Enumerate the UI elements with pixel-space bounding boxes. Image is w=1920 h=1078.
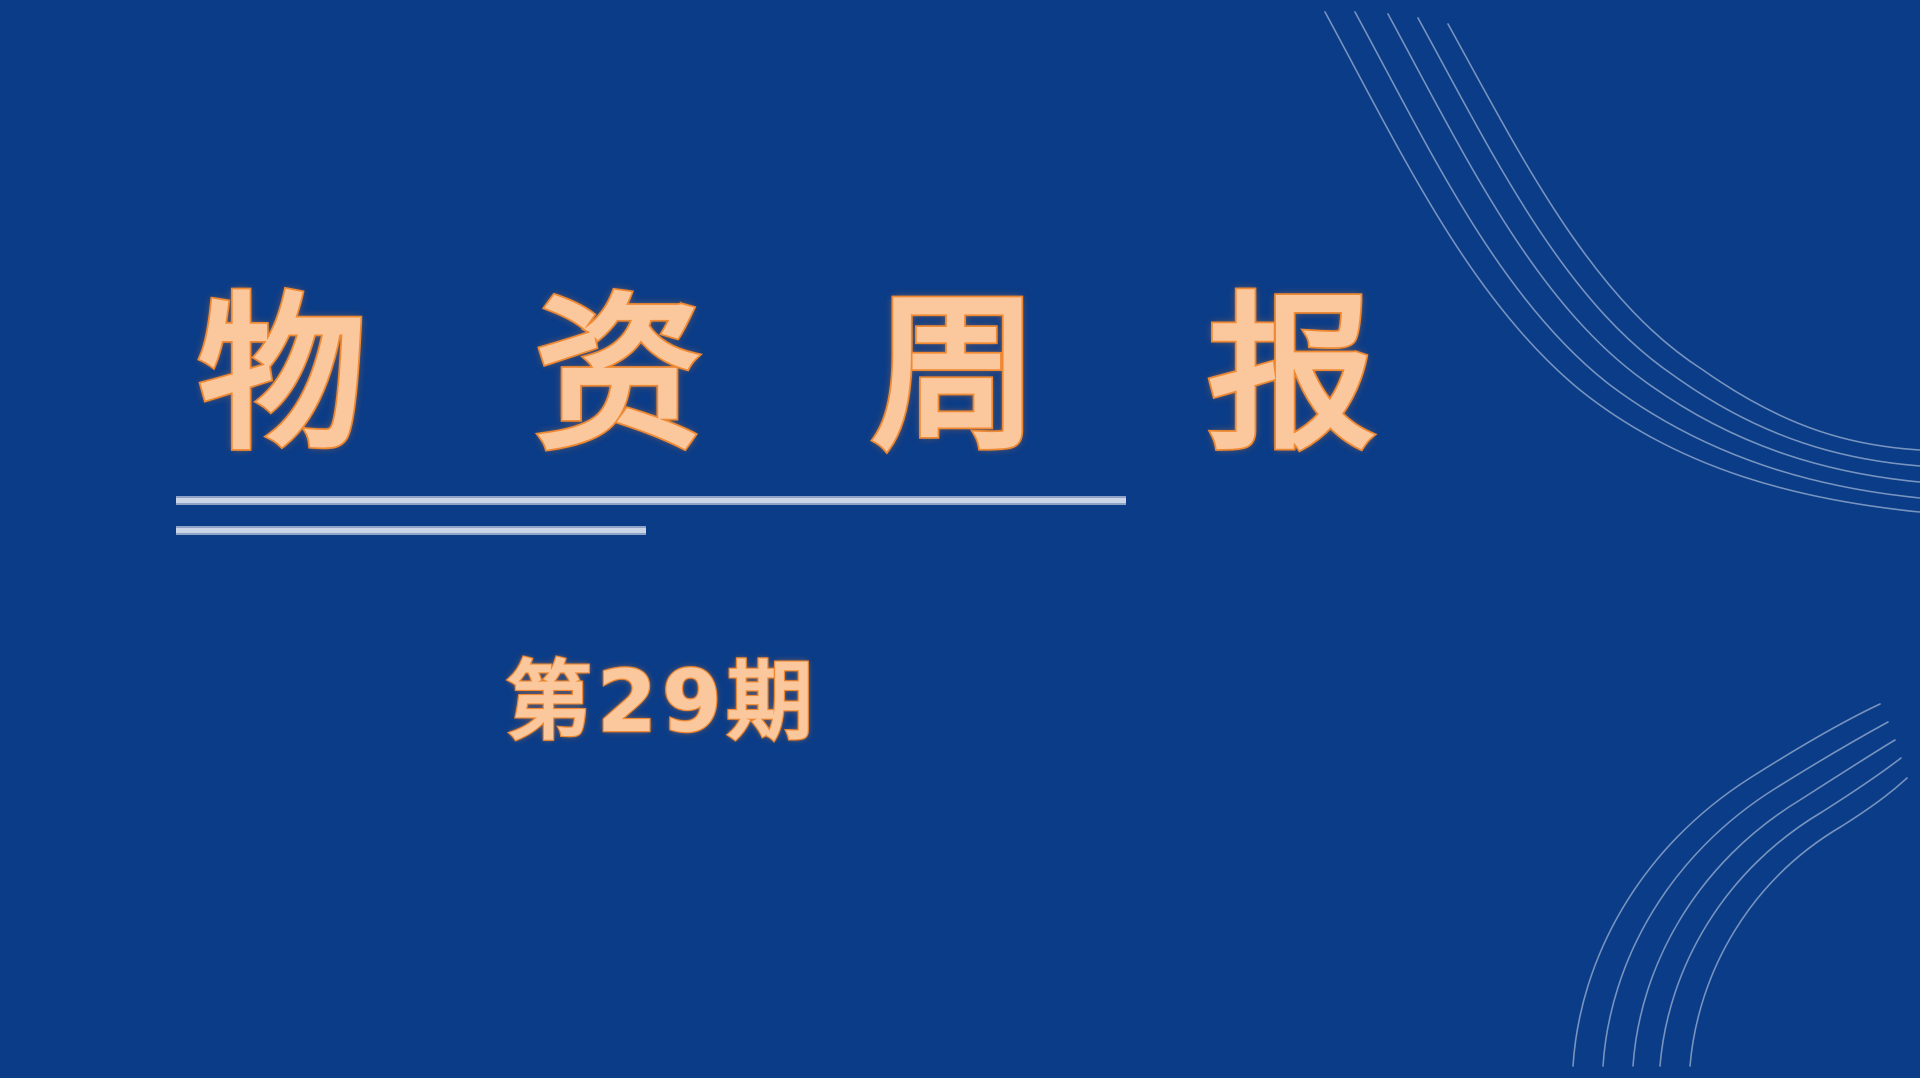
slide-root: 物 资 周 报 第29期 [0,0,1920,1078]
title-block: 物 资 周 报 [176,286,1176,535]
wave-lines-bottom-right-icon [1280,598,1920,1078]
title-rule-short [176,526,646,535]
title-rule-long [176,496,1126,505]
issue-number-subtitle: 第29期 [506,652,818,753]
page-title: 物 资 周 报 [198,286,1176,464]
